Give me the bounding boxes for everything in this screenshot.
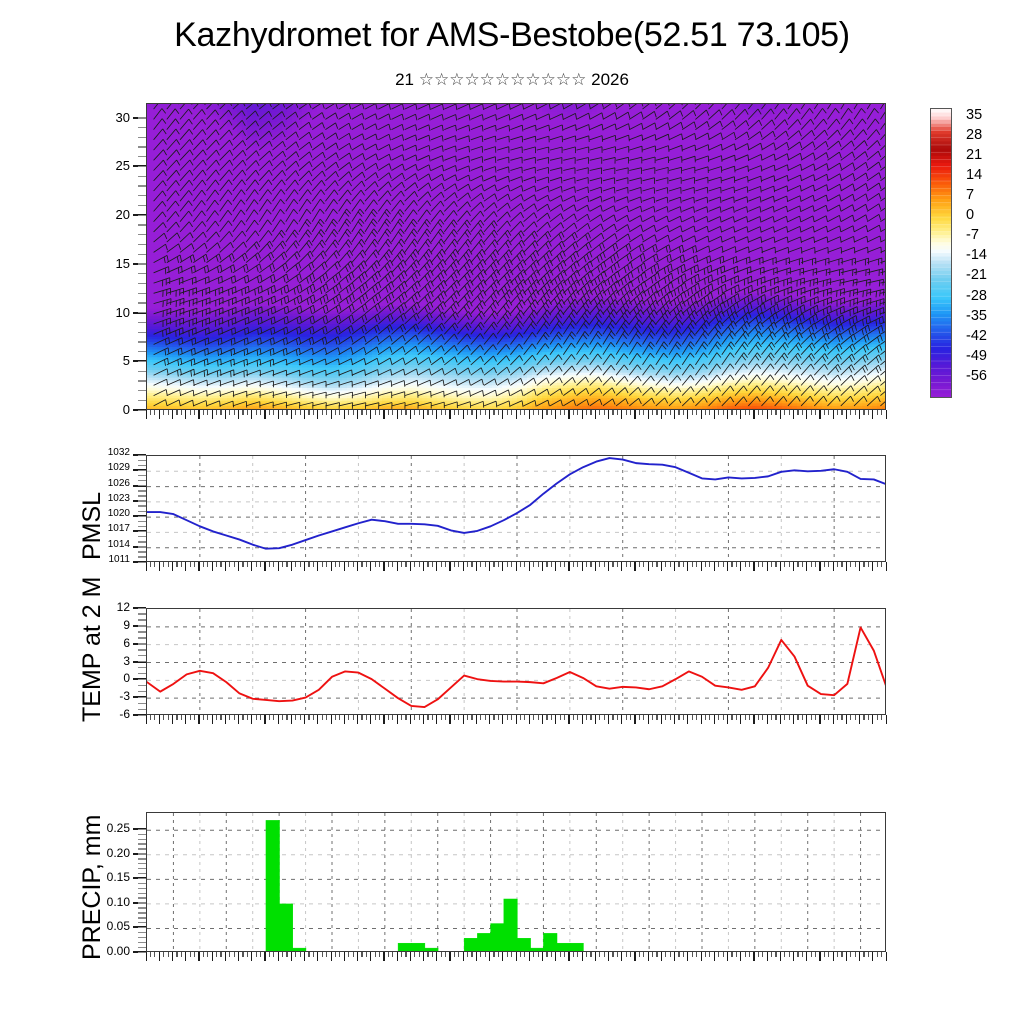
precip-bar xyxy=(504,899,518,952)
x-tick xyxy=(159,952,160,961)
precip-bar xyxy=(557,943,571,952)
x-tick xyxy=(740,952,741,961)
x-tick xyxy=(331,952,332,961)
precip-canvas xyxy=(147,813,886,952)
x-tick xyxy=(427,952,428,957)
x-tick xyxy=(731,952,732,957)
y-minor-tick xyxy=(138,834,146,835)
x-tick xyxy=(353,952,354,957)
x-tick xyxy=(599,952,600,957)
precip-bar xyxy=(477,933,491,952)
x-tick xyxy=(322,952,323,957)
precip-panel: PRECIP, mm 0.000.050.100.150.200.25 xyxy=(0,0,1024,1024)
x-tick xyxy=(238,952,239,961)
x-tick xyxy=(516,952,517,961)
x-tick xyxy=(498,952,499,957)
x-tick xyxy=(762,952,763,957)
x-tick xyxy=(234,952,235,957)
x-tick xyxy=(745,952,746,957)
x-tick xyxy=(264,952,265,961)
y-minor-tick xyxy=(138,853,146,854)
x-tick xyxy=(357,952,358,961)
x-tick xyxy=(168,952,169,957)
x-tick xyxy=(542,952,543,961)
x-tick xyxy=(855,952,856,957)
x-tick xyxy=(652,952,653,957)
y-tick-label: 0.05 xyxy=(70,919,130,933)
y-minor-tick xyxy=(138,907,146,908)
x-tick xyxy=(775,952,776,957)
y-minor-tick xyxy=(138,922,146,923)
y-minor-tick xyxy=(138,858,146,859)
x-tick xyxy=(604,952,605,957)
x-tick xyxy=(300,952,301,957)
x-tick xyxy=(612,952,613,957)
x-tick xyxy=(212,952,213,961)
precip-plot[interactable] xyxy=(146,812,886,952)
x-tick xyxy=(339,952,340,957)
x-tick xyxy=(538,952,539,957)
x-tick xyxy=(361,952,362,957)
x-tick xyxy=(833,952,834,961)
y-minor-tick xyxy=(138,868,146,869)
x-tick xyxy=(313,952,314,957)
x-tick xyxy=(767,952,768,961)
x-tick xyxy=(286,952,287,957)
x-tick xyxy=(819,952,820,961)
x-tick xyxy=(872,952,873,961)
y-minor-tick xyxy=(138,917,146,918)
y-minor-tick xyxy=(138,873,146,874)
x-tick xyxy=(811,952,812,957)
y-minor-tick xyxy=(138,843,146,844)
y-minor-tick xyxy=(138,902,146,903)
y-tick-label: 0.25 xyxy=(70,821,130,835)
precip-bar xyxy=(491,924,505,952)
x-tick xyxy=(383,952,384,961)
x-tick xyxy=(608,952,609,961)
x-tick xyxy=(185,952,186,961)
x-tick xyxy=(463,952,464,961)
x-tick xyxy=(533,952,534,957)
x-tick xyxy=(445,952,446,957)
x-tick xyxy=(678,952,679,957)
x-tick xyxy=(194,952,195,957)
y-tick-label: 0.15 xyxy=(70,870,130,884)
x-tick xyxy=(648,952,649,961)
x-tick xyxy=(181,952,182,957)
x-tick xyxy=(617,952,618,957)
x-tick xyxy=(172,952,173,961)
precip-bar xyxy=(517,938,531,952)
x-tick xyxy=(414,952,415,957)
x-tick xyxy=(863,952,864,957)
y-tick-label: 0.10 xyxy=(70,895,130,909)
meteogram-page: Kazhydromet for AMS-Bestobe(52.51 73.105… xyxy=(0,0,1024,1024)
x-tick xyxy=(573,952,574,957)
x-tick xyxy=(626,952,627,957)
x-tick xyxy=(846,952,847,961)
x-tick xyxy=(577,952,578,957)
x-tick xyxy=(582,952,583,961)
x-tick xyxy=(229,952,230,957)
precip-bar xyxy=(543,933,557,952)
x-tick xyxy=(379,952,380,957)
x-tick xyxy=(564,952,565,957)
x-tick xyxy=(841,952,842,957)
x-tick xyxy=(886,952,887,961)
x-tick xyxy=(485,952,486,957)
x-tick xyxy=(273,952,274,957)
x-tick xyxy=(630,952,631,957)
x-tick xyxy=(242,952,243,957)
x-tick xyxy=(780,952,781,961)
y-minor-tick xyxy=(138,878,146,879)
x-tick xyxy=(454,952,455,957)
x-tick xyxy=(493,952,494,957)
x-tick xyxy=(375,952,376,957)
x-tick xyxy=(670,952,671,957)
x-tick xyxy=(410,952,411,961)
x-tick xyxy=(797,952,798,957)
x-tick xyxy=(881,952,882,957)
precip-bar xyxy=(266,820,280,952)
x-tick xyxy=(749,952,750,957)
x-tick xyxy=(828,952,829,957)
y-minor-tick xyxy=(138,883,146,884)
x-tick xyxy=(524,952,525,957)
x-tick xyxy=(304,952,305,961)
x-tick xyxy=(251,952,252,961)
x-tick xyxy=(859,952,860,961)
x-tick xyxy=(529,952,530,961)
x-tick xyxy=(326,952,327,957)
x-tick xyxy=(278,952,279,961)
x-tick xyxy=(207,952,208,957)
x-tick xyxy=(203,952,204,957)
x-tick xyxy=(432,952,433,957)
y-minor-tick xyxy=(138,888,146,889)
x-tick xyxy=(480,952,481,957)
x-tick xyxy=(295,952,296,957)
x-tick xyxy=(405,952,406,957)
x-tick xyxy=(260,952,261,957)
x-tick xyxy=(568,952,569,961)
x-tick xyxy=(225,952,226,961)
x-tick xyxy=(701,952,702,961)
x-tick xyxy=(837,952,838,957)
x-tick xyxy=(449,952,450,961)
x-tick xyxy=(216,952,217,957)
x-tick xyxy=(344,952,345,961)
y-minor-tick xyxy=(138,863,146,864)
x-tick xyxy=(789,952,790,957)
x-tick xyxy=(441,952,442,957)
x-tick xyxy=(723,952,724,957)
x-tick xyxy=(621,952,622,961)
x-tick xyxy=(401,952,402,957)
x-tick xyxy=(291,952,292,961)
x-tick xyxy=(397,952,398,961)
x-tick xyxy=(639,952,640,957)
x-tick xyxy=(868,952,869,957)
y-minor-tick xyxy=(138,897,146,898)
x-tick xyxy=(656,952,657,957)
x-tick xyxy=(176,952,177,957)
x-tick xyxy=(220,952,221,957)
x-tick xyxy=(714,952,715,961)
x-tick xyxy=(586,952,587,957)
y-minor-tick xyxy=(138,947,146,948)
x-tick xyxy=(392,952,393,957)
x-tick xyxy=(520,952,521,957)
x-tick xyxy=(150,952,151,957)
y-minor-tick xyxy=(138,893,146,894)
x-tick xyxy=(709,952,710,957)
x-tick xyxy=(661,952,662,961)
x-tick xyxy=(489,952,490,961)
x-tick xyxy=(850,952,851,957)
x-tick xyxy=(674,952,675,961)
x-tick xyxy=(198,952,199,961)
x-tick xyxy=(247,952,248,957)
x-tick xyxy=(877,952,878,957)
precip-bar xyxy=(570,943,584,952)
x-tick xyxy=(467,952,468,957)
y-minor-tick xyxy=(138,912,146,913)
y-tick-label: 0.20 xyxy=(70,846,130,860)
x-tick xyxy=(163,952,164,957)
x-tick xyxy=(419,952,420,957)
x-tick xyxy=(256,952,257,957)
x-tick xyxy=(802,952,803,957)
precip-axis-title: PRECIP, mm xyxy=(78,815,107,960)
x-tick xyxy=(308,952,309,957)
x-tick xyxy=(546,952,547,957)
x-tick xyxy=(370,952,371,961)
x-tick xyxy=(758,952,759,957)
x-tick xyxy=(458,952,459,957)
x-tick xyxy=(507,952,508,957)
x-tick xyxy=(269,952,270,957)
x-tick xyxy=(317,952,318,961)
x-tick xyxy=(502,952,503,961)
x-tick xyxy=(687,952,688,961)
y-minor-tick xyxy=(138,848,146,849)
x-tick xyxy=(388,952,389,957)
x-tick xyxy=(560,952,561,957)
x-tick xyxy=(683,952,684,957)
x-tick xyxy=(815,952,816,957)
x-tick xyxy=(643,952,644,957)
x-tick xyxy=(471,952,472,957)
x-tick xyxy=(555,952,556,961)
y-minor-tick xyxy=(138,829,146,830)
x-tick xyxy=(423,952,424,961)
x-tick xyxy=(696,952,697,957)
precip-bar xyxy=(464,938,478,952)
x-tick xyxy=(771,952,772,957)
x-tick xyxy=(551,952,552,957)
x-tick xyxy=(634,952,635,961)
y-minor-tick xyxy=(138,839,146,840)
x-tick xyxy=(692,952,693,957)
x-tick xyxy=(348,952,349,957)
precip-bar xyxy=(398,943,412,952)
x-tick xyxy=(736,952,737,957)
x-tick xyxy=(753,952,754,961)
x-tick xyxy=(705,952,706,957)
x-tick xyxy=(665,952,666,957)
x-tick xyxy=(476,952,477,961)
x-tick xyxy=(718,952,719,957)
x-tick xyxy=(436,952,437,961)
y-minor-tick xyxy=(138,932,146,933)
x-tick xyxy=(146,952,147,961)
x-tick xyxy=(335,952,336,957)
precip-bar xyxy=(279,904,293,952)
x-tick xyxy=(511,952,512,957)
x-tick xyxy=(784,952,785,957)
x-tick xyxy=(366,952,367,957)
x-tick xyxy=(154,952,155,957)
x-tick xyxy=(590,952,591,957)
x-tick xyxy=(806,952,807,961)
x-tick xyxy=(595,952,596,961)
x-tick xyxy=(282,952,283,957)
x-tick xyxy=(824,952,825,957)
y-tick-label: 0.00 xyxy=(70,944,130,958)
x-tick xyxy=(727,952,728,961)
x-tick xyxy=(793,952,794,961)
x-tick xyxy=(190,952,191,957)
precip-bar xyxy=(411,943,425,952)
y-minor-tick xyxy=(138,927,146,928)
y-minor-tick xyxy=(138,942,146,943)
y-minor-tick xyxy=(138,937,146,938)
